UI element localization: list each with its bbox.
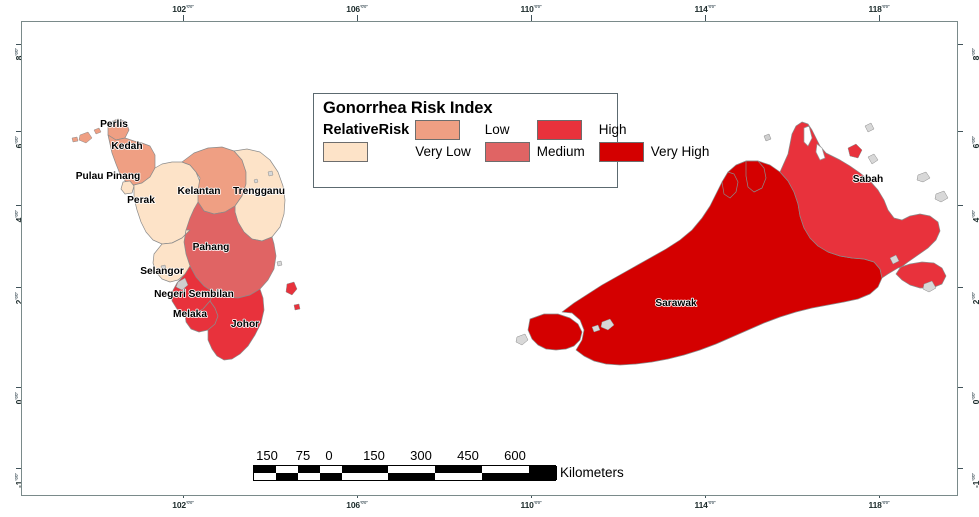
island-sabah-8 — [764, 134, 771, 141]
axis-right-tick-3: 2°0'0" — [971, 292, 979, 304]
label-pahang: Pahang — [193, 242, 230, 253]
label-trengganu: Trengganu — [233, 186, 285, 197]
legend-label-medium: Medium — [537, 144, 599, 159]
scale-seg-b7 — [482, 473, 529, 480]
scale-seg-b6 — [435, 473, 482, 480]
axis-right-tick-5: -1°0'0" — [971, 473, 979, 488]
region-sarawak[interactable] — [528, 314, 582, 350]
legend-title: Gonorrhea Risk Index — [323, 99, 617, 118]
scale-num-4: 300 — [410, 448, 432, 463]
legend-label-very-low: Very Low — [415, 144, 485, 159]
axis-right-tick-1: 6°0'0" — [971, 136, 979, 148]
axis-top-tick-2: 110°0'0" — [521, 4, 542, 14]
island-sabah-4 — [935, 191, 948, 202]
label-kedah: Kedah — [111, 141, 142, 152]
scale-bar-graphic — [253, 465, 556, 481]
legend-swatch-very-high[interactable] — [599, 142, 644, 162]
island-small-2 — [277, 261, 282, 266]
scale-seg-t3 — [320, 466, 342, 473]
scale-bar-unit: Kilometers — [560, 465, 624, 480]
region-perlis-islet-3 — [72, 137, 78, 142]
scale-num-6: 600 — [504, 448, 526, 463]
map-figure: 102°0'0" 106°0'0" 110°0'0" 114°0'0" 118°… — [0, 0, 979, 517]
scale-seg-b3 — [320, 473, 342, 480]
scale-seg-t1 — [276, 466, 298, 473]
island-tioman — [286, 282, 297, 295]
label-perak: Perak — [127, 195, 155, 206]
island-sabah-3 — [917, 172, 930, 182]
legend-label-low: Low — [485, 122, 537, 137]
scale-bar-numbers: 150 75 0 150 300 450 600 — [253, 448, 556, 465]
scale-seg-t6 — [435, 466, 482, 473]
axis-top-tick-1: 106°0'0" — [346, 4, 367, 14]
region-perlis-islet-1 — [79, 132, 92, 143]
legend-label-high: High — [599, 122, 651, 137]
label-kelantan: Kelantan — [177, 186, 220, 197]
label-pulau-pinang: Pulau Pinang — [76, 171, 141, 182]
scale-seg-b5 — [388, 473, 435, 480]
axis-top-tick-0: 102°0'0" — [172, 4, 193, 14]
scale-seg-b0 — [254, 473, 276, 480]
scale-num-1: 75 — [296, 448, 310, 463]
legend-swatch-medium[interactable] — [485, 142, 530, 162]
axis-bottom-tick-0: 102°0'0" — [172, 500, 193, 510]
scale-seg-t4 — [342, 466, 388, 473]
island-sabah-2 — [868, 154, 878, 164]
axis-right-tick-0: 8°0'0" — [971, 48, 979, 60]
scale-seg-b4 — [342, 473, 388, 480]
scale-seg-b2 — [298, 473, 320, 480]
axis-bottom-tick-3: 114°0'0" — [695, 500, 716, 510]
scale-bar: 150 75 0 150 300 450 600 — [253, 448, 556, 481]
label-selangor: Selangor — [140, 266, 184, 277]
scale-seg-t5 — [388, 466, 435, 473]
island-small-1 — [294, 304, 300, 310]
legend-swatch-very-low[interactable] — [323, 142, 368, 162]
scale-num-0: 150 — [256, 448, 278, 463]
legend-label-very-high: Very High — [651, 144, 710, 159]
island-sarawak-1 — [516, 334, 528, 345]
legend-grid: RelativeRisk Low High Very Low Medium Ve… — [323, 120, 617, 162]
scale-seg-t2 — [298, 466, 320, 473]
island-small-4 — [254, 179, 258, 183]
legend-swatch-low[interactable] — [415, 120, 460, 140]
legend-swatch-high[interactable] — [537, 120, 582, 140]
scale-seg-t7 — [482, 466, 529, 473]
label-negeri-sembilan: Negeri Sembilan — [154, 289, 234, 300]
label-sabah: Sabah — [853, 174, 884, 185]
axis-top-tick-4: 118°0'0" — [869, 4, 890, 14]
island-sabah-7 — [865, 123, 874, 132]
axis-bottom-tick-4: 118°0'0" — [869, 500, 890, 510]
axis-right-tick-2: 4°0'0" — [971, 210, 979, 222]
scale-seg-b8 — [529, 473, 557, 480]
label-johor: Johor — [231, 319, 259, 330]
label-sarawak: Sarawak — [655, 298, 697, 309]
island-sabah-1 — [848, 144, 862, 158]
scale-num-5: 450 — [457, 448, 479, 463]
axis-right-tick-4: 0°0'0" — [971, 392, 979, 404]
label-melaka: Melaka — [173, 309, 207, 320]
scale-seg-t0 — [254, 466, 276, 473]
scale-num-3: 150 — [363, 448, 385, 463]
legend-field-label: RelativeRisk — [323, 122, 415, 138]
map-legend: Gonorrhea Risk Index RelativeRisk Low Hi… — [313, 93, 618, 188]
axis-bottom-tick-2: 110°0'0" — [521, 500, 542, 510]
label-perlis: Perlis — [100, 119, 128, 130]
scale-seg-b1 — [276, 473, 298, 480]
island-small-3 — [268, 171, 273, 176]
axis-bottom-tick-1: 106°0'0" — [346, 500, 367, 510]
scale-seg-t8 — [529, 466, 557, 473]
scale-num-2: 0 — [325, 448, 332, 463]
axis-top-tick-3: 114°0'0" — [695, 4, 716, 14]
